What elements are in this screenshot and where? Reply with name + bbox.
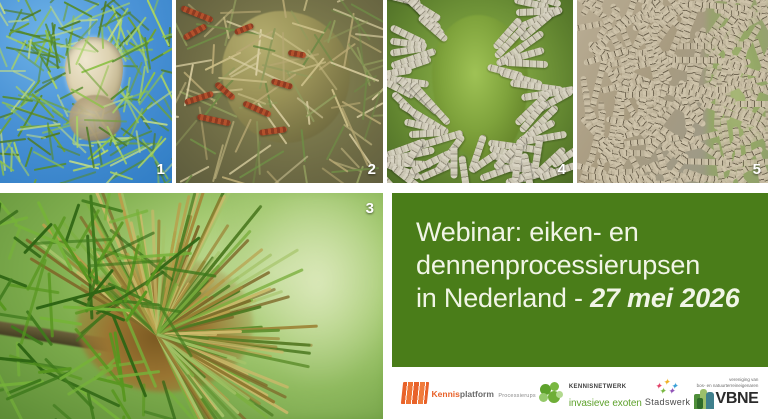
- photo-tile-2: 2: [176, 0, 383, 183]
- kennisplatform-name-rest: platform: [460, 389, 494, 399]
- vbne-tree-icon: [694, 388, 714, 409]
- webinar-date: 27 mei 2026: [590, 283, 739, 313]
- photo-5-caterpillars: [577, 0, 768, 183]
- stadswerk-star-icon: ✦ ✦ ✦ ✦ ✦: [653, 379, 683, 396]
- partner-logo-bar: Kennisplatform Processierups KENNISNETWE…: [392, 367, 768, 419]
- photo-tile-5: 5: [577, 0, 768, 183]
- photo-tile-3: 3: [0, 193, 383, 419]
- photo-tile-1: 1: [0, 0, 172, 183]
- vbne-tagline-line-2: bos- en natuurterreineigenaren: [697, 383, 759, 388]
- logo-kennisnetwerk-invasieve-exoten[interactable]: KENNISNETWERK invasieve exoten: [539, 375, 642, 410]
- title-line-3-prefix: in Nederland -: [416, 283, 590, 313]
- title-line-1: Webinar: eiken- en: [416, 216, 758, 249]
- webinar-title: Webinar: eiken- en dennenprocessierupsen…: [416, 216, 758, 315]
- title-line-3: in Nederland - 27 mei 2026: [416, 282, 758, 315]
- photo-number-1: 1: [157, 162, 165, 177]
- title-panel: Webinar: eiken- en dennenprocessierupsen…: [392, 193, 768, 367]
- vbne-main: VBNE: [694, 388, 759, 409]
- kennisplatform-name-line-1: Kennisplatform: [432, 389, 494, 399]
- logo-kennisplatform-processierups[interactable]: Kennisplatform Processierups: [402, 382, 536, 404]
- vbne-tagline-line-1: vereniging van: [729, 377, 758, 382]
- kennisnetwerk-wordmark: KENNISNETWERK invasieve exoten: [569, 375, 642, 410]
- logo-stadswerk[interactable]: ✦ ✦ ✦ ✦ ✦ Stadswerk: [645, 379, 691, 407]
- photo-2-caterpillars: [176, 0, 383, 183]
- photo-4-caterpillars: [387, 0, 573, 183]
- vbne-tagline: vereniging van bos- en natuurterreineige…: [697, 377, 759, 388]
- title-line-2: dennenprocessierupsen: [416, 249, 758, 282]
- photo-number-5: 5: [753, 162, 761, 177]
- kennisnetwerk-name-line-2: invasieve exoten: [569, 398, 642, 409]
- kennisnetwerk-name-line-1: KENNISNETWERK: [569, 384, 627, 390]
- kennisplatform-name-line-2: Processierups: [498, 393, 535, 399]
- stadswerk-wordmark: Stadswerk: [645, 397, 691, 407]
- vbne-wordmark: VBNE: [716, 390, 759, 408]
- photo-number-4: 4: [558, 162, 566, 177]
- kennisplatform-book-icon: [400, 382, 428, 404]
- kennisnetwerk-leaf-icon: [539, 382, 565, 404]
- photo-number-2: 2: [368, 162, 376, 177]
- photo-3-needles: [0, 193, 383, 419]
- photo-1-foreground-needles: [0, 0, 172, 183]
- kennisplatform-name-accent: Kennis: [432, 389, 460, 399]
- photo-number-3: 3: [366, 201, 374, 216]
- logo-vbne[interactable]: vereniging van bos- en natuurterreineige…: [694, 377, 759, 409]
- kennisplatform-wordmark: Kennisplatform Processierups: [432, 385, 536, 402]
- webinar-banner: 1 2 4 5 3 Webinar: eiken- en dennenproce…: [0, 0, 768, 419]
- photo-tile-4: 4: [387, 0, 573, 183]
